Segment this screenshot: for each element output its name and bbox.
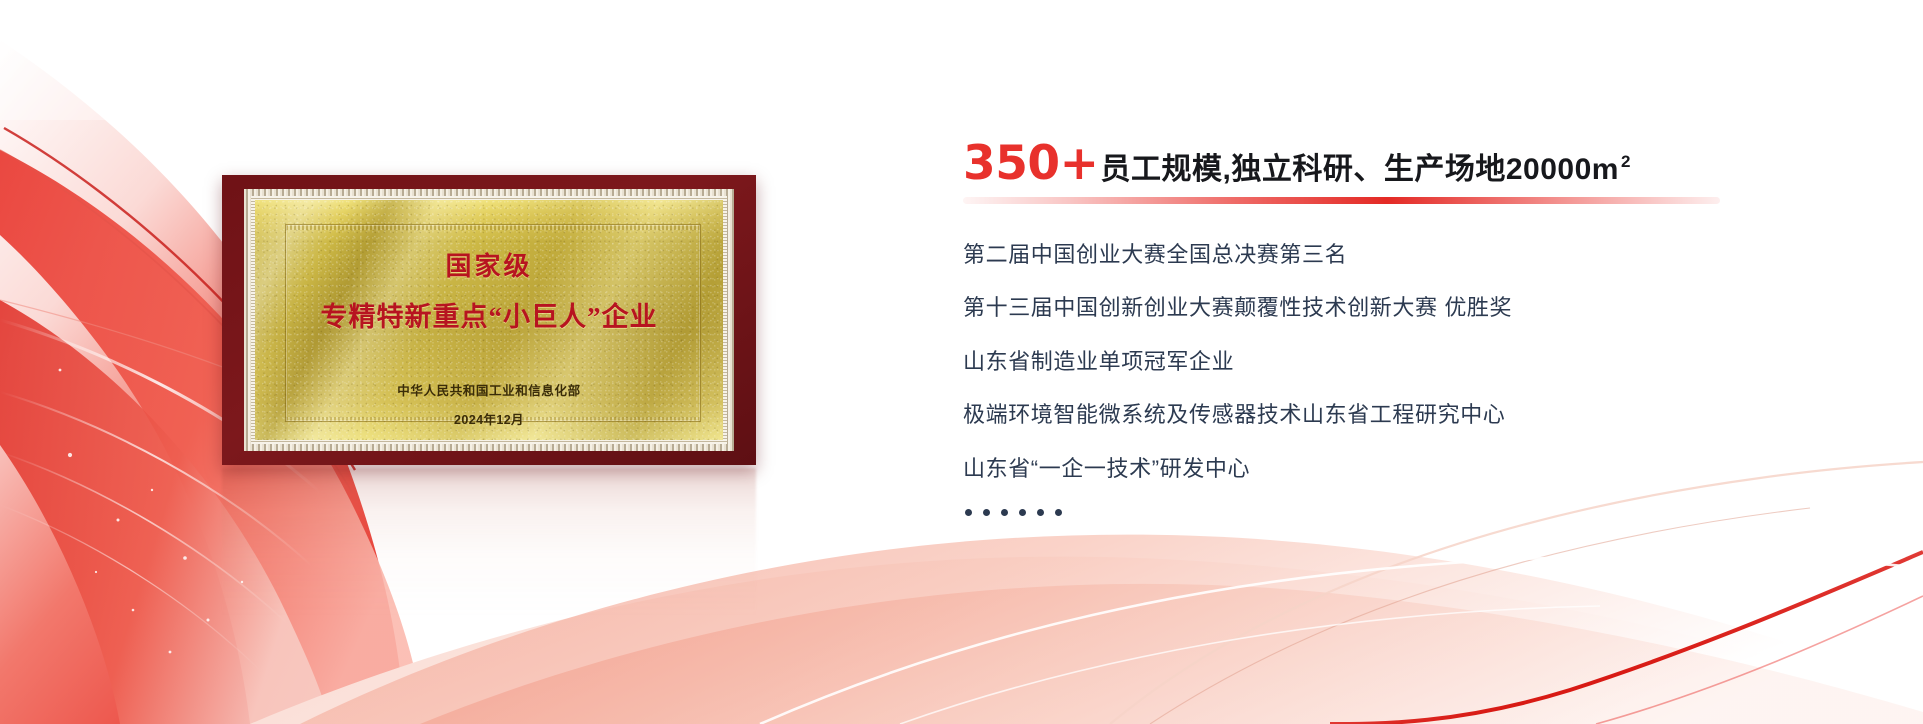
- plaque-issuer: 中华人民共和国工业和信息化部: [397, 380, 580, 399]
- ellipsis-dot: [965, 509, 972, 516]
- more-items-ellipsis: [963, 509, 1863, 516]
- award-item: 山东省制造业单项冠军企业: [963, 349, 1863, 375]
- headline: 350+ 员工规模,独立科研、生产场地20000m 2: [963, 140, 1863, 187]
- headline-superscript: 2: [1621, 153, 1631, 170]
- headline-number: 350+: [963, 140, 1099, 187]
- ellipsis-dot: [983, 509, 990, 516]
- ellipsis-dot: [1001, 509, 1008, 516]
- plaque-reflection: [222, 468, 756, 618]
- award-plaque: 国家级 专精特新重点“小巨人”企业 中华人民共和国工业和信息化部 2024年12…: [222, 175, 756, 465]
- plaque-title-line-1: 国家级: [445, 246, 532, 283]
- plaque-frame-inner: 国家级 专精特新重点“小巨人”企业 中华人民共和国工业和信息化部 2024年12…: [251, 196, 727, 444]
- award-item: 极端环境智能微系统及传感器技术山东省工程研究中心: [963, 402, 1863, 428]
- ellipsis-dot: [1055, 509, 1062, 516]
- headline-text: 员工规模,独立科研、生产场地20000m: [1101, 155, 1619, 185]
- ellipsis-dot: [1037, 509, 1044, 516]
- headline-underline: [963, 197, 1720, 204]
- plaque-frame-outer: 国家级 专精特新重点“小巨人”企业 中华人民共和国工业和信息化部 2024年12…: [244, 189, 734, 451]
- award-item: 山东省“一企一技术”研发中心: [963, 456, 1863, 482]
- plaque-text-block: 国家级 专精特新重点“小巨人”企业 中华人民共和国工业和信息化部 2024年12…: [255, 200, 723, 440]
- content-column: 350+ 员工规模,独立科研、生产场地20000m 2 第二届中国创业大赛全国总…: [963, 140, 1863, 516]
- awards-list: 第二届中国创业大赛全国总决赛第三名 第十三届中国创新创业大赛颠覆性技术创新大赛 …: [963, 242, 1863, 482]
- plaque-gold-plate: 国家级 专精特新重点“小巨人”企业 中华人民共和国工业和信息化部 2024年12…: [255, 200, 723, 440]
- plaque-title-line-2: 专精特新重点“小巨人”企业: [321, 295, 658, 334]
- banner-canvas: 国家级 专精特新重点“小巨人”企业 中华人民共和国工业和信息化部 2024年12…: [0, 0, 1923, 724]
- ellipsis-dot: [1019, 509, 1026, 516]
- plaque-date: 2024年12月: [454, 409, 524, 428]
- award-item: 第十三届中国创新创业大赛颠覆性技术创新大赛 优胜奖: [963, 295, 1863, 321]
- award-item: 第二届中国创业大赛全国总决赛第三名: [963, 242, 1863, 268]
